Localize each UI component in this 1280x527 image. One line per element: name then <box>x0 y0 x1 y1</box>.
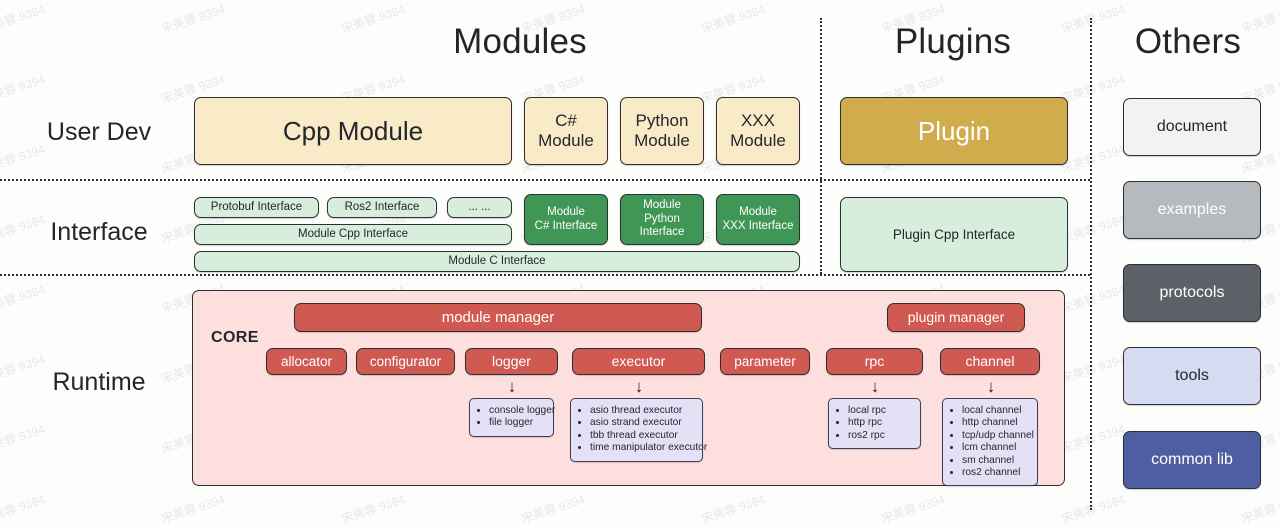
sublist-channel: local channelhttp channeltcp/udp channel… <box>942 398 1038 486</box>
watermark-text: 宋美蓉 9394 <box>1239 490 1280 527</box>
watermark-text: 宋美蓉 9394 <box>0 70 47 107</box>
box-csharp-module[interactable]: C#Module <box>524 97 608 165</box>
watermark-text: 宋美蓉 9394 <box>699 490 767 527</box>
watermark-text: 宋美蓉 9394 <box>159 490 227 527</box>
box-channel[interactable]: channel <box>940 348 1040 375</box>
box-common-lib[interactable]: common lib <box>1123 431 1261 489</box>
row-label-user-dev: User Dev <box>14 118 184 147</box>
column-title-plugins: Plugins <box>828 22 1078 62</box>
box-document[interactable]: document <box>1123 98 1261 156</box>
watermark-text: 宋美蓉 9394 <box>0 420 47 457</box>
box-parameter[interactable]: parameter <box>720 348 810 375</box>
watermark-text: 宋美蓉 9394 <box>879 490 947 527</box>
watermark-text: 宋美蓉 9394 <box>1059 140 1127 177</box>
list-item: sm channel <box>962 455 1029 467</box>
list-item: console logger <box>489 405 545 417</box>
box-cpp-module[interactable]: Cpp Module <box>194 97 512 165</box>
divider-modules-plugins <box>820 18 822 274</box>
list-item: tcp/udp channel <box>962 430 1029 442</box>
divider-plugins-others <box>1090 18 1092 510</box>
row-label-interface: Interface <box>14 218 184 247</box>
watermark-text: 宋美蓉 9394 <box>1059 210 1127 247</box>
list-item: http rpc <box>848 417 912 429</box>
watermark-text: 宋美蓉 9394 <box>0 280 47 317</box>
box-configurator[interactable]: configurator <box>356 348 455 375</box>
watermark-text: 宋美蓉 9394 <box>1059 420 1127 457</box>
sublist-logger: console loggerfile logger <box>469 398 554 437</box>
list-item: asio strand executor <box>590 417 694 429</box>
box-module-xxx-interface[interactable]: ModuleXXX Interface <box>716 194 800 245</box>
core-label: CORE <box>211 329 259 347</box>
box-examples[interactable]: examples <box>1123 181 1261 239</box>
list-item: http channel <box>962 417 1029 429</box>
list-item: time manipulator executor <box>590 442 694 454</box>
row-label-runtime: Runtime <box>14 368 184 397</box>
box-module-manager[interactable]: module manager <box>294 303 702 332</box>
watermark-text: 宋美蓉 9394 <box>339 490 407 527</box>
box-tools[interactable]: tools <box>1123 347 1261 405</box>
box-module-c-interface[interactable]: Module C Interface <box>194 251 800 272</box>
column-title-modules: Modules <box>240 22 800 62</box>
box-module-cpp-interface[interactable]: Module Cpp Interface <box>194 224 512 245</box>
list-item: local rpc <box>848 405 912 417</box>
sublist-rpc: local rpchttp rpcros2 rpc <box>828 398 921 449</box>
box-rpc[interactable]: rpc <box>826 348 923 375</box>
list-item: file logger <box>489 417 545 429</box>
watermark-text: 宋美蓉 9394 <box>1059 490 1127 527</box>
list-item: local channel <box>962 405 1029 417</box>
list-item: ros2 rpc <box>848 430 912 442</box>
list-item: ros2 channel <box>962 467 1029 479</box>
box-plugin-manager[interactable]: plugin manager <box>887 303 1025 332</box>
list-item: tbb thread executor <box>590 430 694 442</box>
box-xxx-module[interactable]: XXXModule <box>716 97 800 165</box>
divider-interface-runtime <box>0 274 1090 276</box>
list-item: asio thread executor <box>590 405 694 417</box>
box-more-interfaces[interactable]: ... ... <box>447 197 512 218</box>
column-title-others: Others <box>1098 22 1278 62</box>
box-protocols[interactable]: protocols <box>1123 264 1261 322</box>
sublist-executor: asio thread executorasio strand executor… <box>570 398 703 462</box>
box-ros2-interface[interactable]: Ros2 Interface <box>327 197 437 218</box>
box-plugin-cpp-interface[interactable]: Plugin Cpp Interface <box>840 197 1068 272</box>
box-python-module[interactable]: PythonModule <box>620 97 704 165</box>
list-item: lcm channel <box>962 442 1029 454</box>
watermark-text: 宋美蓉 9394 <box>159 0 227 37</box>
box-allocator[interactable]: allocator <box>266 348 347 375</box>
watermark-text: 宋美蓉 9394 <box>1059 70 1127 107</box>
box-executor[interactable]: executor <box>572 348 705 375</box>
watermark-text: 宋美蓉 9394 <box>1059 280 1127 317</box>
divider-userdev-interface <box>0 179 1090 181</box>
box-protobuf-interface[interactable]: Protobuf Interface <box>194 197 319 218</box>
watermark-text: 宋美蓉 9394 <box>0 0 47 37</box>
watermark-text: 宋美蓉 9394 <box>1059 350 1127 387</box>
diagram-canvas: 宋美蓉 9394宋美蓉 9394宋美蓉 9394宋美蓉 9394宋美蓉 9394… <box>0 0 1280 519</box>
watermark-text: 宋美蓉 9394 <box>519 490 587 527</box>
box-plugin[interactable]: Plugin <box>840 97 1068 165</box>
box-logger[interactable]: logger <box>465 348 558 375</box>
box-module-csharp-interface[interactable]: ModuleC# Interface <box>524 194 608 245</box>
box-module-python-interface[interactable]: ModulePython Interface <box>620 194 704 245</box>
watermark-text: 宋美蓉 9394 <box>0 490 47 527</box>
